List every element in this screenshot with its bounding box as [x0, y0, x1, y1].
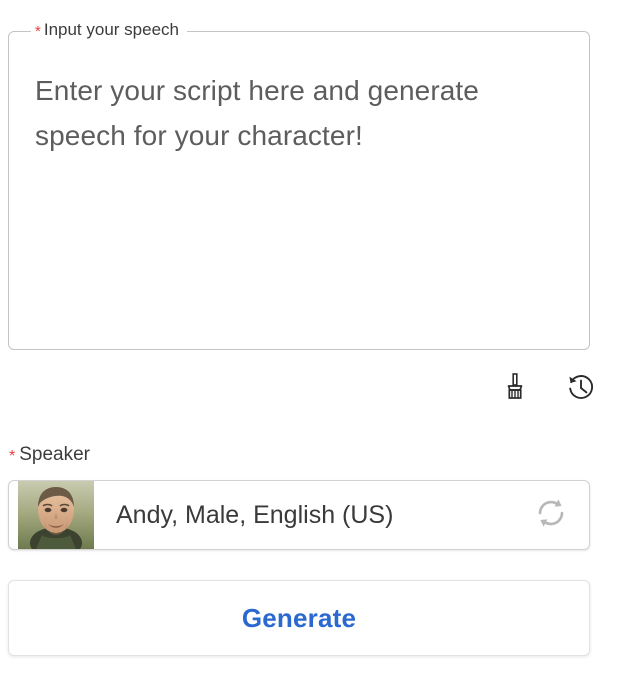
generate-button-label: Generate	[242, 603, 356, 634]
broom-icon	[500, 372, 530, 407]
speech-toolbar	[498, 372, 598, 406]
speech-input-fieldset: *Input your speech Enter your script her…	[8, 20, 590, 350]
speech-textarea-placeholder: Enter your script here and generate spee…	[35, 68, 569, 158]
speech-input-legend-label: Input your speech	[44, 20, 179, 39]
speaker-selected-value: Andy, Male, English (US)	[94, 501, 529, 529]
tts-generation-panel: *Input your speech Enter your script her…	[0, 0, 620, 700]
speaker-select[interactable]: Andy, Male, English (US)	[8, 480, 590, 550]
speaker-avatar	[18, 481, 94, 549]
speaker-label: *Speaker	[9, 444, 90, 468]
speaker-label-text: Speaker	[19, 444, 90, 465]
history-icon	[565, 371, 597, 408]
generate-button[interactable]: Generate	[8, 580, 590, 656]
refresh-icon	[534, 496, 568, 535]
speech-input-legend: *Input your speech	[31, 20, 187, 42]
speaker-refresh-button[interactable]	[529, 493, 573, 537]
history-button[interactable]	[564, 372, 598, 406]
required-asterisk-icon: *	[9, 448, 15, 465]
required-asterisk-icon: *	[35, 23, 41, 40]
speech-textarea[interactable]: Enter your script here and generate spee…	[9, 42, 589, 349]
clear-button[interactable]	[498, 372, 532, 406]
